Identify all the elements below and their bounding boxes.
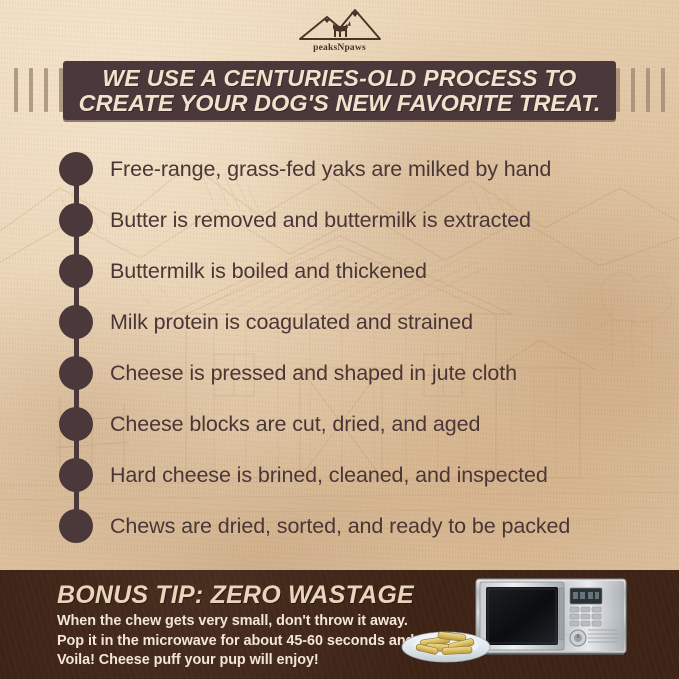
- step-label: Hard cheese is brined, cleaned, and insp…: [110, 463, 548, 487]
- tick-mark: [29, 68, 33, 112]
- bullet-dot-icon: [59, 254, 93, 288]
- bonus-tip-heading: Bonus Tip: Zero Wastage: [57, 582, 414, 609]
- bonus-line-3: Voila! Cheese puff your pup will enjoy!: [57, 651, 426, 671]
- list-item: Chews are dried, sorted, and ready to be…: [0, 509, 679, 543]
- step-label: Cheese blocks are cut, dried, and aged: [110, 412, 480, 436]
- bonus-tip-bar: Bonus Tip: Zero Wastage When the chew ge…: [0, 570, 679, 679]
- right-tick-marks: [616, 64, 665, 116]
- step-label: Milk protein is coagulated and strained: [110, 310, 473, 334]
- tick-mark: [646, 68, 650, 112]
- process-steps-list: Free-range, grass-fed yaks are milked by…: [0, 146, 679, 556]
- tick-mark: [631, 68, 635, 112]
- step-label: Chews are dried, sorted, and ready to be…: [110, 514, 570, 538]
- bonus-tip-body: When the chew gets very small, don't thr…: [57, 612, 426, 671]
- step-label: Free-range, grass-fed yaks are milked by…: [110, 157, 551, 181]
- step-label: Buttermilk is boiled and thickened: [110, 259, 427, 283]
- mountain-dog-logo-icon: [297, 6, 383, 42]
- step-label: Cheese is pressed and shaped in jute clo…: [110, 361, 517, 385]
- tick-mark: [14, 68, 18, 112]
- list-item: Free-range, grass-fed yaks are milked by…: [0, 152, 679, 186]
- bullet-dot-icon: [59, 152, 93, 186]
- bonus-line-2: Pop it in the microwave for about 45-60 …: [57, 632, 426, 652]
- bullet-dot-icon: [59, 305, 93, 339]
- step-label: Butter is removed and buttermilk is extr…: [110, 208, 531, 232]
- list-item: Cheese blocks are cut, dried, and aged: [0, 407, 679, 441]
- tick-mark: [616, 68, 620, 112]
- bullet-dot-icon: [59, 458, 93, 492]
- poster-canvas: peaksNpaws We use a centuries-old proces…: [0, 0, 679, 679]
- headline-banner-row: We use a centuries-old process to create…: [0, 58, 679, 124]
- list-item: Buttermilk is boiled and thickened: [0, 254, 679, 288]
- list-item: Hard cheese is brined, cleaned, and insp…: [0, 458, 679, 492]
- tick-mark: [44, 68, 48, 112]
- bullet-dot-icon: [59, 203, 93, 237]
- microwave-with-plate-illustration: [398, 570, 679, 679]
- brand-wordmark: peaksNpaws: [313, 43, 366, 53]
- bonus-line-1: When the chew gets very small, don't thr…: [57, 612, 426, 632]
- bullet-dot-icon: [59, 356, 93, 390]
- bullet-dot-icon: [59, 509, 93, 543]
- brand-logo: peaksNpaws: [0, 6, 679, 54]
- headline-line-1: We use a centuries-old process to: [102, 66, 576, 91]
- list-item: Milk protein is coagulated and strained: [0, 305, 679, 339]
- list-item: Cheese is pressed and shaped in jute clo…: [0, 356, 679, 390]
- left-tick-marks: [14, 64, 63, 116]
- tick-mark: [661, 68, 665, 112]
- headline-line-2: create your dog's new favorite treat.: [79, 91, 601, 116]
- bullet-dot-icon: [59, 407, 93, 441]
- headline-banner: We use a centuries-old process to create…: [63, 61, 616, 120]
- list-item: Butter is removed and buttermilk is extr…: [0, 203, 679, 237]
